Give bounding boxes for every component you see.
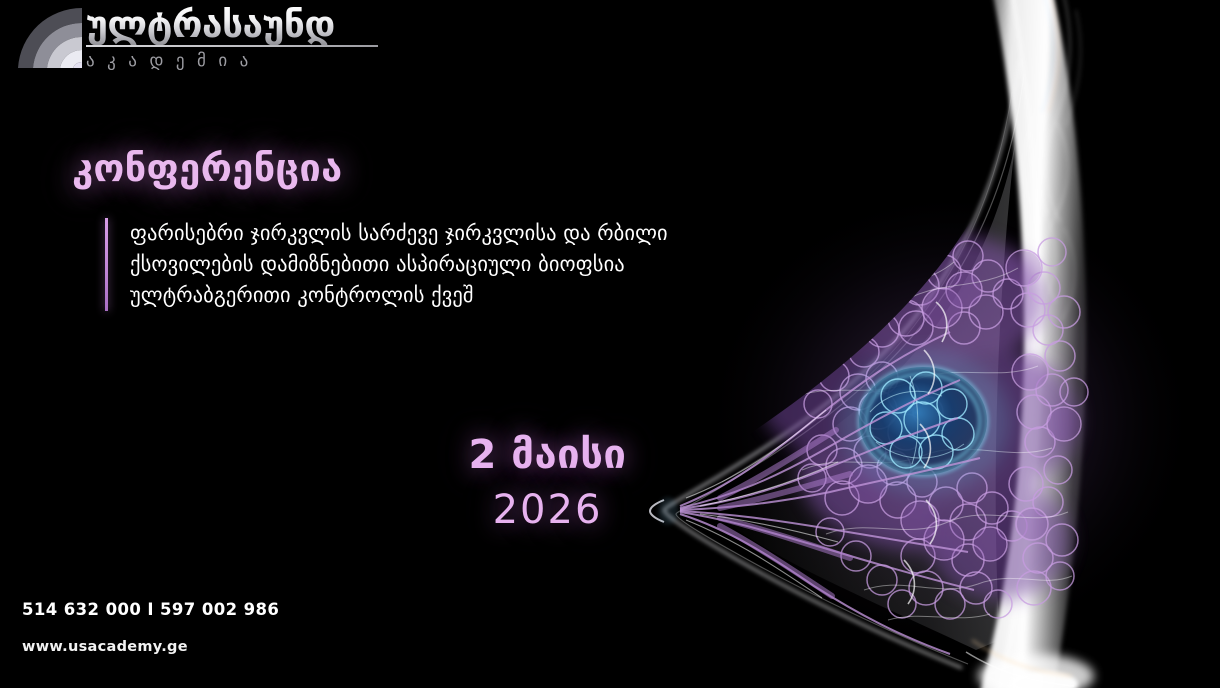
logo-subtitle-text: აკადემია bbox=[86, 51, 386, 71]
chest-wall-fibers bbox=[1024, 0, 1080, 382]
description-text: ფარისებრი ჯირკვლის სარძევე ჯირკვლისა და … bbox=[130, 218, 668, 311]
breast-contour bbox=[664, 60, 1024, 668]
event-date-day: 2 მაისი bbox=[415, 432, 680, 478]
contact-website[interactable]: www.usacademy.ge bbox=[22, 639, 279, 655]
event-date: 2 მაისი 2026 bbox=[415, 432, 680, 534]
tumor-lesion-highlight bbox=[838, 350, 1010, 494]
conference-poster: ულტრასაუნდ აკადემია კონფერენცია ფარისებრ… bbox=[0, 0, 1220, 688]
contact-block: 514 632 000 I 597 002 986 www.usacademy.… bbox=[22, 600, 279, 655]
breast-cross-section-ultrasound-illustration bbox=[620, 0, 1220, 688]
chromatic-fringe bbox=[1042, 0, 1059, 112]
fascia-shading bbox=[720, 128, 1018, 650]
page-title: კონფერენცია bbox=[72, 146, 342, 190]
lactiferous-ducts bbox=[680, 302, 980, 654]
quarter-arc-logo-icon bbox=[16, 6, 88, 72]
ambient-glow bbox=[700, 185, 1200, 655]
accent-bar bbox=[105, 218, 108, 311]
brand-logo[interactable]: ულტრასაუნდ აკადემია bbox=[8, 2, 388, 82]
description-block: ფარისებრი ჯირკვლის სარძევე ჯირკვლისა და … bbox=[105, 218, 668, 311]
chest-wall bbox=[978, 0, 1086, 688]
logo-wordmark-text: ულტრასაუნდ bbox=[86, 4, 386, 46]
contact-phone-numbers[interactable]: 514 632 000 I 597 002 986 bbox=[22, 600, 279, 619]
lower-chest-highlight bbox=[966, 640, 1094, 688]
mammary-lobules bbox=[760, 234, 1088, 620]
event-date-year: 2026 bbox=[415, 486, 680, 534]
